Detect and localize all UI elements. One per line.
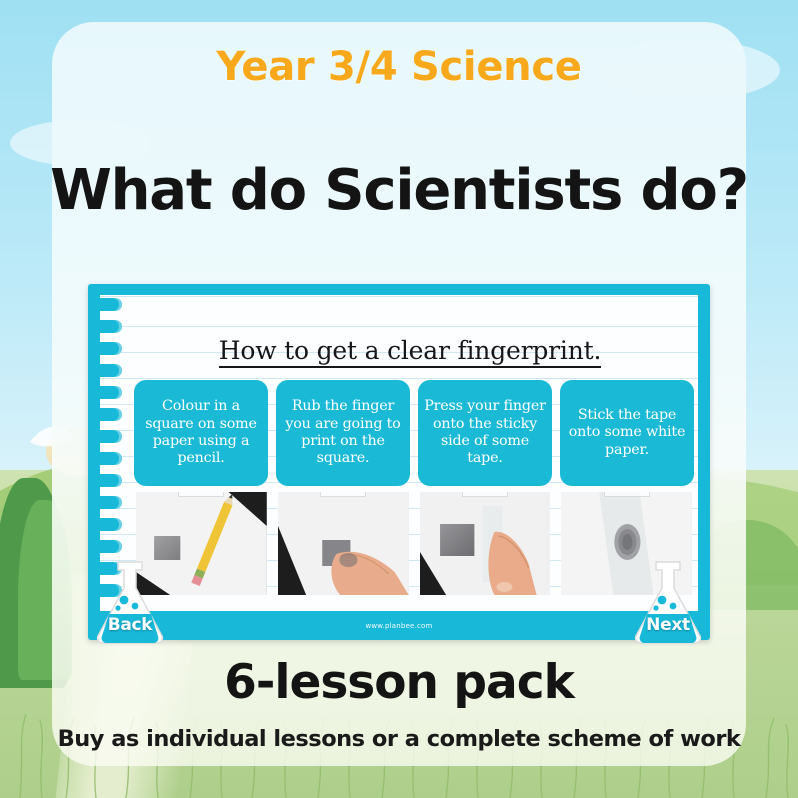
pack-subtitle: Buy as individual lessons or a complete …	[0, 726, 798, 752]
slide-title: How to get a clear fingerprint.	[134, 336, 686, 365]
photo-list	[136, 492, 692, 595]
pack-title: 6-lesson pack	[0, 655, 798, 710]
instruction-card: Rub the finger you are going to print on…	[276, 380, 410, 486]
instruction-card: Stick the tape onto some white paper.	[560, 380, 694, 486]
step-photo	[278, 492, 409, 595]
tape-strip-icon	[178, 492, 224, 497]
promo-image: Year 3/4 Science What do Scientists do? …	[0, 0, 798, 798]
instruction-card-list: Colour in a square on some paper using a…	[134, 380, 694, 486]
flask-icon	[626, 556, 710, 644]
slide-title-text: How to get a clear fingerprint.	[219, 336, 601, 368]
flask-icon	[88, 556, 172, 644]
instruction-card: Colour in a square on some paper using a…	[134, 380, 268, 486]
page-title: What do Scientists do?	[0, 158, 798, 223]
slide-preview[interactable]: How to get a clear fingerprint. Colour i…	[88, 284, 710, 640]
step-photo	[420, 492, 551, 595]
watermark-url: www.planbee.com	[365, 622, 432, 630]
instruction-card: Press your finger onto the sticky side o…	[418, 380, 552, 486]
slide-footer: www.planbee.com	[88, 612, 710, 640]
back-button[interactable]: Back	[88, 556, 172, 644]
next-button[interactable]: Next	[626, 556, 710, 644]
eyebrow-title: Year 3/4 Science	[0, 44, 798, 90]
tape-strip-icon	[462, 492, 508, 497]
tape-strip-icon	[320, 492, 366, 497]
tape-strip-icon	[604, 492, 650, 497]
